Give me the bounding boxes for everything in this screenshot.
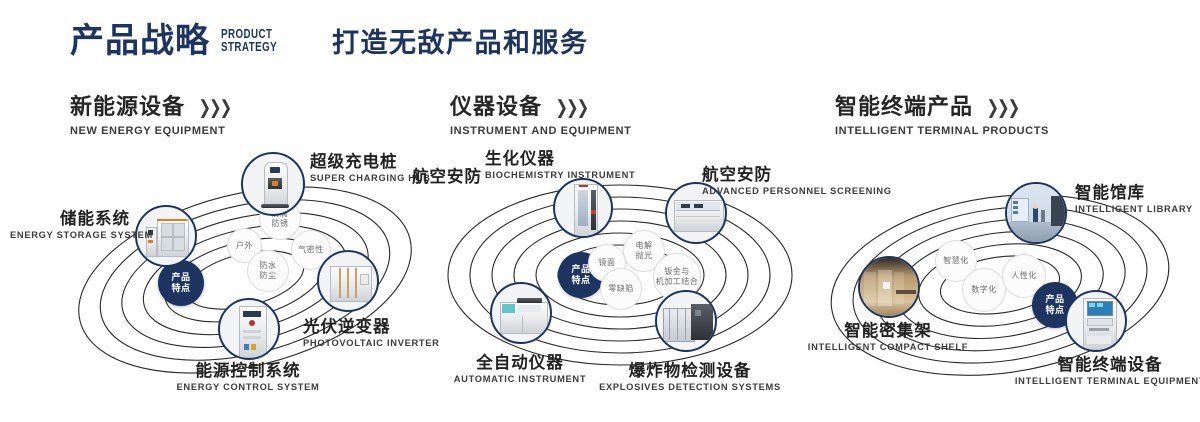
- node-label-intelligent-terminal-equipment: 智能终端设备 INTELLIGENT TERMINAL EQUIPMENT: [1010, 356, 1200, 387]
- node-intelligent-library[interactable]: [1005, 182, 1067, 244]
- library-room-icon: [1007, 184, 1065, 242]
- node-label-energy-control-system: 能源控制系统 ENERGY CONTROL SYSTEM: [153, 362, 343, 393]
- chevron-right-icon: ❯❯❯: [986, 96, 1018, 119]
- node-intelligent-compact-shelf[interactable]: [858, 256, 920, 318]
- feature-bubble-label-line2: 机加工结合: [656, 277, 699, 287]
- node-biochemistry-instrument[interactable]: [553, 178, 613, 238]
- node-energy-control-system[interactable]: [218, 298, 280, 360]
- core-badge-line2: 特点: [1045, 305, 1064, 316]
- feature-bubble-label-line1: 钣金与: [664, 267, 690, 277]
- node-label-explosives-detection: 爆炸物检测设备 EXPLOSIVES DETECTION SYSTEMS: [590, 362, 790, 393]
- section-title-en: NEW ENERGY EQUIPMENT: [70, 125, 230, 137]
- self-service-kiosk-icon: [1067, 292, 1125, 350]
- automatic-analyzer-icon: [492, 284, 550, 342]
- node-explosives-detection[interactable]: [655, 290, 717, 352]
- section-title-instrument: 仪器设备 ❯❯❯ INSTRUMENT AND EQUIPMENT: [450, 96, 631, 137]
- chevron-right-icon: ❯❯❯: [555, 96, 587, 119]
- node-label-en: ENERGY STORAGE SYSTEM: [10, 230, 130, 240]
- page-title-cn: 产品战略: [70, 24, 210, 58]
- feature-bubble-label: 智慧化: [943, 256, 969, 266]
- feature-bubble-zero-defect: 零缺陷: [600, 268, 642, 310]
- node-label-cn: 智能终端设备: [1010, 356, 1200, 374]
- page-title-en: PRODUCT STRATEGY: [221, 28, 277, 54]
- node-label-cn: 智能馆库: [1075, 184, 1193, 202]
- feature-bubble-label: 镜面: [599, 258, 616, 268]
- node-label-en: INTELLIGENT TERMINAL EQUIPMENT: [1010, 376, 1200, 386]
- page-title-en-line1: PRODUCT: [221, 27, 272, 41]
- control-cabinet-icon: [220, 300, 278, 358]
- node-label-cn: 智能密集架: [788, 322, 988, 340]
- feature-bubble-label-line2: 防尘: [260, 271, 277, 281]
- page-subtitle: 打造无敌产品和服务: [332, 30, 589, 57]
- feature-bubble-label: 数字化: [971, 285, 997, 295]
- feature-bubble-digital: 数字化: [962, 268, 1006, 312]
- diagram-intelligent-terminal: 智慧化 数字化 人性化 产品 特点 智: [810, 150, 1200, 422]
- node-label-en: BIOCHEMISTRY INSTRUMENT: [485, 170, 635, 180]
- node-automatic-instrument[interactable]: [490, 282, 552, 344]
- feature-bubble-label-line1: 防水: [260, 261, 277, 271]
- feature-bubble-label-line1: 电解: [636, 241, 653, 251]
- node-label-intelligent-compact-shelf: 智能密集架 INTELLIGENT COMPACT SHELF: [788, 322, 988, 353]
- node-label-cn: 爆炸物检测设备: [590, 362, 790, 380]
- chevron-right-icon: ❯❯❯: [198, 96, 230, 119]
- section-title-en: INTELLIGENT TERMINAL PRODUCTS: [835, 125, 1049, 137]
- core-badge-line2: 特点: [571, 275, 590, 286]
- core-badge-line1: 产品: [1045, 294, 1064, 305]
- pv-inverter-cabinet-icon: [319, 252, 377, 310]
- node-intelligent-terminal-equipment[interactable]: [1065, 290, 1127, 352]
- feature-bubble-label-line2: 防锈: [272, 219, 289, 229]
- node-label-en: INTELLIGENT COMPACT SHELF: [788, 342, 988, 352]
- core-badge-line1: 产品: [171, 272, 190, 283]
- node-label-cn: 能源控制系统: [153, 362, 343, 380]
- feature-bubble-label: 零缺陷: [608, 284, 634, 294]
- node-label-energy-storage: 储能系统 ENERGY STORAGE SYSTEM: [10, 210, 130, 241]
- section-title-en: INSTRUMENT AND EQUIPMENT: [450, 125, 631, 137]
- node-label-intelligent-library: 智能馆库 INTELLIGENT LIBRARY: [1075, 184, 1193, 215]
- section-title-intelligent-terminal: 智能终端产品 ❯❯❯ INTELLIGENT TERMINAL PRODUCTS: [835, 96, 1049, 137]
- explosive-detector-icon: [657, 292, 715, 350]
- feature-bubble-waterproof: 防水 防尘: [247, 250, 289, 292]
- product-strategy-infographic: 产品战略 PRODUCT STRATEGY 打造无敌产品和服务 新能源设备 ❯❯…: [0, 0, 1200, 422]
- section-title-cn: 仪器设备: [450, 96, 542, 118]
- section-title-new-energy: 新能源设备 ❯❯❯ NEW ENERGY EQUIPMENT: [70, 96, 230, 137]
- node-label-aviation-security-left: 航空安防: [412, 168, 482, 186]
- core-badge-line2: 特点: [171, 283, 190, 294]
- node-pv-inverter[interactable]: [317, 250, 379, 312]
- node-label-en: EXPLOSIVES DETECTION SYSTEMS: [590, 382, 790, 392]
- page-header: 产品战略 PRODUCT STRATEGY: [70, 24, 293, 58]
- node-label-cn: 航空安防: [412, 168, 482, 186]
- node-label-biochemistry-instrument: 生化仪器 BIOCHEMISTRY INSTRUMENT: [485, 150, 635, 181]
- node-label-cn: 储能系统: [10, 210, 130, 228]
- diagram-instrument: 产品 特点 镜面 电解 抛光 零缺陷 钣金与 机加工结合 航空安防: [420, 150, 820, 422]
- node-label-en: ENERGY CONTROL SYSTEM: [153, 382, 343, 392]
- section-title-cn: 新能源设备: [70, 96, 185, 118]
- section-title-cn: 智能终端产品: [835, 96, 973, 118]
- node-super-charging-hub[interactable]: [241, 152, 305, 216]
- page-title-en-line2: STRATEGY: [221, 40, 277, 54]
- compact-shelving-icon: [860, 258, 918, 316]
- feature-bubble-label: 户外: [236, 241, 253, 251]
- diagram-new-energy: 产品 特点 户外 防腐 防锈 防水 防尘 气密性: [55, 150, 435, 422]
- feature-bubble-label: 人性化: [1011, 271, 1037, 281]
- feature-bubble-label-line2: 抛光: [636, 251, 653, 261]
- security-scanner-gate-icon: [555, 180, 611, 236]
- charging-pile-icon: [243, 154, 303, 214]
- node-label-cn: 生化仪器: [485, 150, 635, 168]
- node-label-en: INTELLIGENT LIBRARY: [1075, 204, 1193, 214]
